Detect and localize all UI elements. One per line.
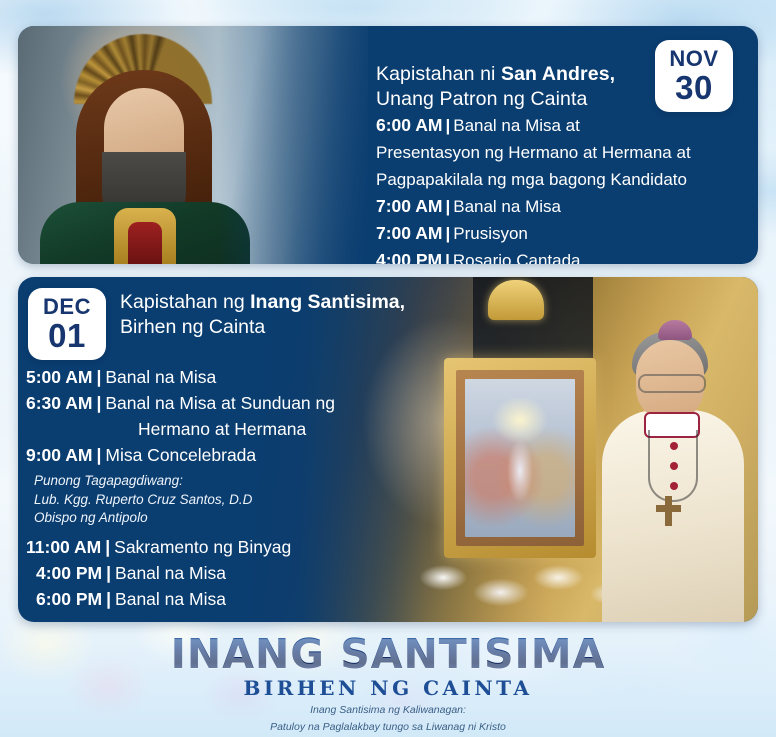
celebrant-line-1: Lub. Kgg. Ruperto Cruz Santos, D.D bbox=[34, 491, 335, 510]
card2-event-3: Sakramento ng Binyag bbox=[114, 537, 291, 557]
card2-sep-0: | bbox=[92, 367, 105, 387]
logo-tagline-line2: Patuloy na Paglalakbay tungo sa Liwanag … bbox=[0, 720, 776, 734]
card1-event-1: Banal na Misa bbox=[453, 197, 561, 216]
card2-sep-1: | bbox=[92, 393, 105, 413]
card2-sep-3: | bbox=[101, 537, 114, 557]
pectoral-cross-icon bbox=[665, 496, 672, 526]
card2-heading-lead: Kapistahan ng bbox=[120, 291, 250, 313]
card1-event-2: Prusisyon bbox=[453, 224, 528, 243]
card2-event-4: Banal na Misa bbox=[115, 563, 226, 583]
card1-continuation-0: Presentasyon ng Hermano at Hermana at bbox=[376, 139, 748, 166]
cassock-button bbox=[670, 442, 678, 450]
card1-schedule-row: 6:00 AM|Banal na Misa at bbox=[376, 112, 748, 139]
card2-schedule-row: 9:00 AM|Misa Concelebrada bbox=[26, 442, 335, 468]
card1-heading-lead: Kapistahan ni bbox=[376, 63, 501, 85]
card1-heading-line2: Unang Patron ng Cainta bbox=[376, 88, 587, 110]
cassock-button bbox=[670, 462, 678, 470]
card2-time-1: 6:30 AM bbox=[26, 393, 92, 413]
card2-schedule-row: 4:00 PM|Banal na Misa bbox=[26, 560, 335, 586]
card2-indent-line: Hermano at Hermana bbox=[26, 416, 335, 442]
card1-time-2: 7:00 AM bbox=[376, 223, 442, 243]
card1-schedule-row: 4:00 PM|Rosario Cantada bbox=[376, 247, 748, 264]
painting-inner-frame bbox=[456, 370, 584, 546]
card1-time-0: 6:00 AM bbox=[376, 115, 442, 135]
logo-subtitle: BIRHEN NG CAINTA bbox=[0, 676, 776, 700]
logo-block: INANG SANTISIMA BIRHEN NG CAINTA Inang S… bbox=[0, 632, 776, 734]
card1-continuation-1: Pagpapakilala ng mga bagong Kandidato bbox=[376, 166, 748, 193]
card2-sep-2: | bbox=[92, 445, 105, 465]
marian-painting bbox=[465, 379, 575, 537]
crown-icon bbox=[488, 280, 544, 320]
card2-schedule-row: 6:00 PM|Banal na Misa bbox=[26, 586, 335, 612]
card2-heading-bold: Inang Santisima, bbox=[250, 291, 405, 313]
cassock-button bbox=[670, 482, 678, 490]
card2-event-2: Misa Concelebrada bbox=[105, 445, 256, 465]
card1-schedule-row: 7:00 AM|Prusisyon bbox=[376, 220, 748, 247]
card2-time-2: 9:00 AM bbox=[26, 445, 92, 465]
card2-time-0: 5:00 AM bbox=[26, 367, 92, 387]
event-card-nov30: Kapistahan ni San Andres, Unang Patron n… bbox=[18, 26, 758, 264]
card1-sep-2: | bbox=[442, 224, 453, 243]
card2-event-1: Banal na Misa at Sunduan ng bbox=[105, 393, 335, 413]
card1-event-0: Banal na Misa at bbox=[453, 116, 580, 135]
logo-title: INANG SANTISIMA bbox=[0, 632, 776, 676]
card1-schedule-row: 7:00 AM|Banal na Misa bbox=[376, 193, 748, 220]
card2-time-4: 4:00 PM bbox=[36, 563, 102, 583]
card2-schedule-row: 5:00 AM|Banal na Misa bbox=[26, 364, 335, 390]
photo-fade-gradient bbox=[218, 26, 388, 264]
zucchetto-icon bbox=[658, 320, 692, 340]
card2-event-0: Banal na Misa bbox=[105, 367, 216, 387]
card1-sep-3: | bbox=[442, 251, 453, 264]
celebrant-line-0: Punong Tagapagdiwang: bbox=[34, 472, 335, 491]
card1-sep-0: | bbox=[442, 116, 453, 135]
bishop-photo bbox=[596, 300, 748, 622]
card2-event-5: Banal na Misa bbox=[115, 589, 226, 609]
badge-day: 01 bbox=[48, 319, 86, 352]
badge-day: 30 bbox=[675, 71, 713, 104]
saint-robe-red-panel bbox=[128, 222, 162, 264]
card1-heading-bold: San Andres, bbox=[501, 63, 615, 85]
card2-schedule-row: 6:30 AM|Banal na Misa at Sunduan ng bbox=[26, 390, 335, 416]
card2-schedule-row: 11:00 AM|Sakramento ng Binyag bbox=[26, 534, 335, 560]
card2-time-3: 11:00 AM bbox=[26, 537, 101, 557]
card2-heading-line2: Birhen ng Cainta bbox=[120, 316, 265, 338]
eyeglasses-icon bbox=[638, 374, 706, 393]
date-badge-dec01: DEC 01 bbox=[28, 288, 106, 360]
card1-time-3: 4:00 PM bbox=[376, 250, 442, 264]
card2-time-5: 6:00 PM bbox=[36, 589, 102, 609]
card2-sep-4: | bbox=[102, 563, 115, 583]
card2-schedule-list: 5:00 AM|Banal na Misa 6:30 AM|Banal na M… bbox=[26, 364, 335, 612]
card1-event-3: Rosario Cantada bbox=[453, 251, 581, 264]
date-badge-nov30: NOV 30 bbox=[655, 40, 733, 112]
celebrant-line-2: Obispo ng Antipolo bbox=[34, 509, 335, 528]
marian-painting-frame bbox=[444, 358, 596, 558]
logo-tagline-line1: Inang Santisima ng Kaliwanagan: bbox=[0, 703, 776, 717]
poster-root: Kapistahan ni San Andres, Unang Patron n… bbox=[0, 0, 776, 737]
card1-sep-1: | bbox=[442, 197, 453, 216]
badge-month: DEC bbox=[43, 296, 91, 318]
badge-month: NOV bbox=[669, 48, 718, 70]
card1-time-1: 7:00 AM bbox=[376, 196, 442, 216]
celebrant-block: Punong Tagapagdiwang: Lub. Kgg. Ruperto … bbox=[34, 472, 335, 528]
card2-heading: Kapistahan ng Inang Santisima, Birhen ng… bbox=[120, 290, 405, 340]
card2-sep-5: | bbox=[102, 589, 115, 609]
